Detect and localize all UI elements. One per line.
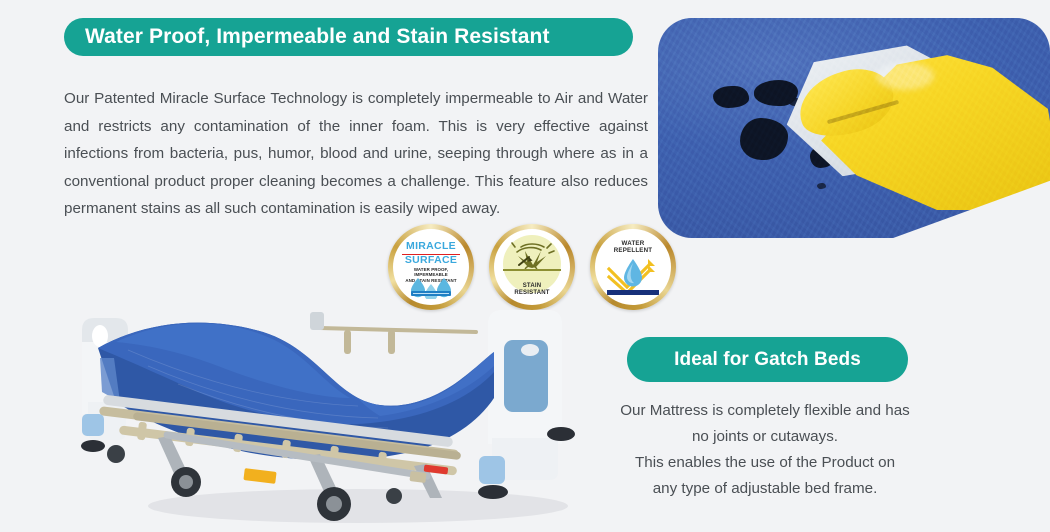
blue-mattress-surface	[658, 18, 1050, 238]
badge-stain-resistant: STAIN RESISTANT	[489, 224, 575, 310]
glove-thumb	[791, 59, 901, 148]
badge-stain-label-line1: STAIN	[523, 283, 542, 289]
badge-miracle-title-line2: SURFACE	[405, 254, 457, 266]
stain-spot	[713, 86, 749, 108]
badge-stain-label: STAIN RESISTANT	[494, 283, 570, 297]
badge-surface-bar	[607, 290, 659, 295]
badge-miracle-title-2: SURFACE	[397, 255, 465, 267]
hospital-bed-illustration	[58, 306, 618, 532]
stain-spot	[754, 80, 798, 106]
stain-spot	[804, 112, 830, 130]
badge-miracle-title: MIRACLE	[397, 241, 465, 253]
badge-face: MIRACLE SURFACE WATER PROOF, IMPERMEABLE…	[393, 229, 469, 305]
waterproof-heading-pill: Water Proof, Impermeable and Stain Resis…	[64, 18, 633, 56]
badge-stain-label-line2: RESISTANT	[514, 290, 549, 296]
stain-spot	[789, 98, 801, 106]
hospital-gatch-bed-photo	[58, 306, 618, 532]
waterproof-paragraph: Our Patented Miracle Surface Technology …	[64, 85, 648, 223]
glove-knuckle-highlight	[876, 62, 934, 90]
stain-spot	[740, 118, 788, 160]
gatch-paragraph-line-4: any type of adjustable bed frame.	[590, 476, 940, 502]
gatch-paragraph-line-3: This enables the use of the Product on	[590, 450, 940, 476]
gatch-beds-heading-label: Ideal for Gatch Beds	[674, 349, 861, 371]
badge-water-label-line2: REPELLENT	[614, 247, 653, 254]
gloved-hand-wiping-stain-photo	[658, 18, 1050, 238]
waterproof-heading-label: Water Proof, Impermeable and Stain Resis…	[85, 25, 550, 49]
badge-surface-bar	[411, 291, 451, 296]
glove-crease	[827, 100, 899, 124]
gatch-paragraph-line-1: Our Mattress is completely flexible and …	[590, 398, 940, 424]
badge-miracle-subtitle-line1: WATER PROOF, IMPERMEABLE	[414, 267, 448, 277]
cleaning-cloth	[782, 42, 964, 180]
badge-miracle-surface: MIRACLE SURFACE WATER PROOF, IMPERMEABLE…	[388, 224, 474, 310]
gatch-beds-paragraph: Our Mattress is completely flexible and …	[590, 398, 940, 502]
badge-surface-line	[503, 269, 561, 271]
badge-water-label-line1: WATER	[622, 240, 645, 247]
badge-face: WATER REPELLENT	[595, 229, 671, 305]
gatch-beds-heading-pill: Ideal for Gatch Beds	[627, 337, 908, 382]
rubber-glove	[806, 52, 1050, 210]
product-feature-slide: Water Proof, Impermeable and Stain Resis…	[0, 0, 1050, 532]
badge-water-label: WATER REPELLENT	[595, 240, 671, 255]
gatch-paragraph-line-2: no joints or cutaways.	[590, 424, 940, 450]
badge-face: STAIN RESISTANT	[494, 229, 570, 305]
badge-miracle-title-line1: MIRACLE	[406, 240, 456, 252]
certification-badge-row: MIRACLE SURFACE WATER PROOF, IMPERMEABLE…	[388, 224, 680, 316]
stain-spot	[817, 183, 826, 189]
stain-spot	[810, 146, 834, 168]
